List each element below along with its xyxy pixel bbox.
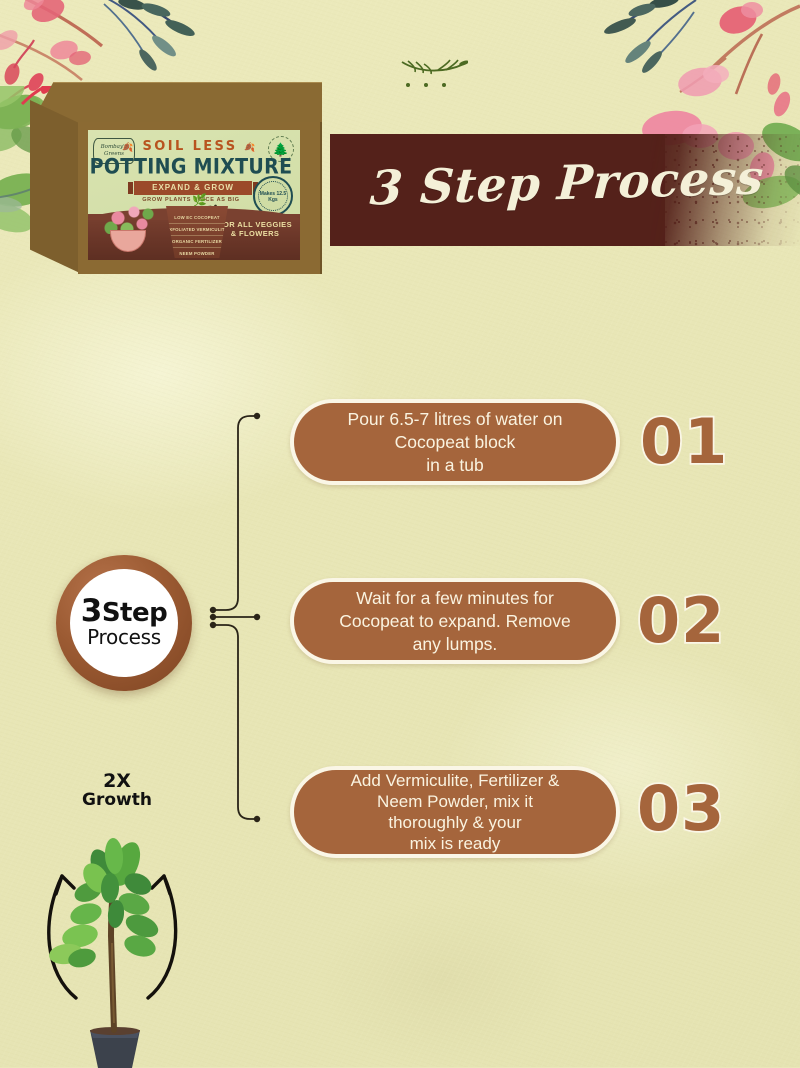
- ingredient-item: EXFOLIATED VERMICULITE: [166, 224, 228, 236]
- step-number-2: 02: [637, 584, 725, 657]
- flower-pot-illustration: [102, 200, 156, 256]
- page-title: 3 Step Process: [368, 150, 765, 216]
- veggies-line-2: & FLOWERS: [231, 229, 280, 238]
- header-banner: 3 Step Process: [330, 134, 800, 246]
- step-1-line-2: Cocopeat block: [395, 432, 516, 452]
- ingredient-item: LOW EC COCOPEAT: [166, 212, 228, 224]
- growth-arrow-right: [148, 876, 176, 998]
- badge-step-word: Step: [102, 598, 167, 628]
- leaf-accent-icon: 🍂: [122, 143, 136, 153]
- sprig-dots: [406, 83, 446, 87]
- veggies-flowers-text: FOR ALL VEGGIES & FLOWERS: [218, 220, 292, 238]
- step-3-line-4: mix is ready: [410, 834, 501, 853]
- box-top-face: [30, 82, 322, 126]
- step-3-line-2: Neem Powder, mix it: [377, 792, 533, 811]
- badge-inner-circle: 3Step Process: [70, 569, 178, 677]
- leaf-accent-icon: 🍂: [244, 143, 258, 153]
- badge-step-line: 3Step: [81, 598, 167, 626]
- step-number-1: 01: [640, 405, 728, 478]
- step-card-3-text: Add Vermiculite, Fertilizer & Neem Powde…: [351, 770, 560, 854]
- product-label: Bombay's Greens 🌲 🍂 SOIL LESS 🍂 POTTING …: [88, 130, 300, 260]
- step-card-1-text: Pour 6.5-7 litres of water on Cocopeat b…: [348, 408, 563, 477]
- badge-process-word: Process: [87, 626, 161, 648]
- plant-pot: [90, 1027, 140, 1068]
- step-card-3: Add Vermiculite, Fertilizer & Neem Powde…: [290, 766, 620, 858]
- box-side-face: [30, 100, 82, 274]
- step-card-1: Pour 6.5-7 litres of water on Cocopeat b…: [290, 399, 620, 485]
- badge-number: 3: [81, 593, 102, 629]
- step-2-line-2: Cocopeat to expand. Remove: [339, 611, 571, 631]
- step-card-2: Wait for a few minutes for Cocopeat to e…: [290, 578, 620, 664]
- step-2-line-1: Wait for a few minutes for: [356, 588, 554, 608]
- growth-word: Growth: [62, 791, 172, 810]
- step-card-2-text: Wait for a few minutes for Cocopeat to e…: [339, 587, 571, 656]
- soil-less-label: SOIL LESS: [143, 139, 238, 154]
- box-front-face: Bombay's Greens 🌲 🍂 SOIL LESS 🍂 POTTING …: [78, 122, 322, 274]
- product-box-image: Bombay's Greens 🌲 🍂 SOIL LESS 🍂 POTTING …: [30, 82, 322, 274]
- sprout-icon: 🌿: [192, 194, 202, 208]
- product-title: POTTING MIXTURE: [88, 155, 294, 179]
- step-3-line-3: thoroughly & your: [388, 813, 521, 832]
- leaf-sprig-icon: [398, 58, 468, 76]
- step-number-3: 03: [637, 772, 725, 845]
- ingredient-item: ORGANIC FERTILIZER: [166, 236, 228, 248]
- plant-illustration: [18, 818, 232, 1068]
- growth-label: 2X Growth: [62, 772, 172, 810]
- plant-leaves: [48, 837, 162, 970]
- veggies-line-1: FOR ALL VEGGIES: [218, 220, 292, 229]
- flower-bowl: [110, 230, 146, 252]
- infographic-page: 3 Step Process Bombay's Greens 🌲 🍂 SOIL …: [0, 0, 800, 1067]
- step-2-line-3: any lumps.: [413, 634, 498, 654]
- three-step-badge: 3Step Process: [56, 555, 192, 691]
- step-3-line-1: Add Vermiculite, Fertilizer &: [351, 771, 560, 790]
- soil-less-text: 🍂 SOIL LESS 🍂: [88, 139, 292, 154]
- step-1-line-3: in a tub: [426, 455, 483, 475]
- growth-multiplier: 2X: [62, 772, 172, 791]
- ingredients-pot: LOW EC COCOPEAT EXFOLIATED VERMICULITE O…: [166, 206, 228, 258]
- step-1-line-1: Pour 6.5-7 litres of water on: [348, 409, 563, 429]
- ingredient-item: NEEM POWDER: [166, 248, 228, 259]
